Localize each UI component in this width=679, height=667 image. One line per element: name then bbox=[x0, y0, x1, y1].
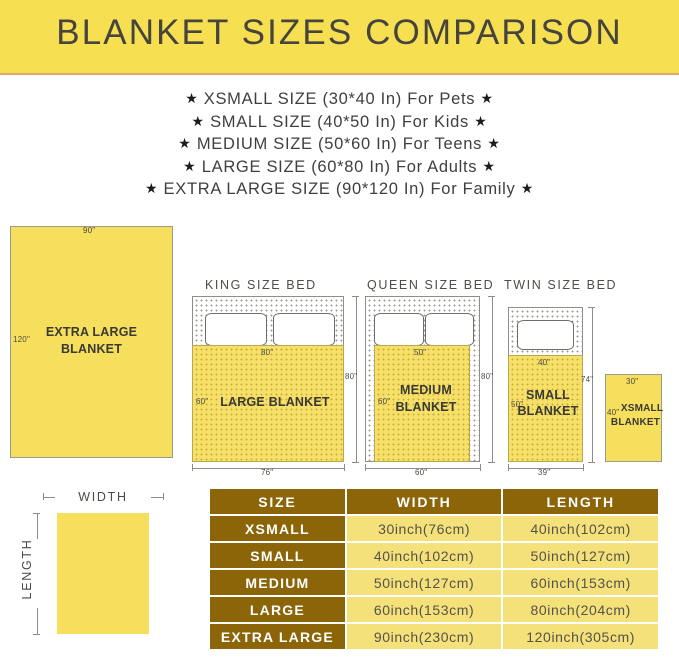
bullet-line-small: ★ SMALL SIZE (40*50 In) For Kids ★ bbox=[0, 111, 679, 134]
legend-length-line-top bbox=[37, 513, 38, 539]
twin-blanket-width-label: 40" bbox=[538, 358, 550, 367]
page-title: BLANKET SIZES COMPARISON bbox=[0, 13, 679, 53]
bullet-line-xsmall: ★ XSMALL SIZE (30*40 In) For Pets ★ bbox=[0, 88, 679, 111]
bullet-text: LARGE SIZE (60*80 In) For Adults bbox=[202, 158, 478, 176]
table-row: SMALL 40inch(102cm) 50inch(127cm) bbox=[210, 543, 658, 568]
row-size-extra-large: EXTRA LARGE bbox=[210, 624, 345, 649]
king-width-tick-left bbox=[192, 464, 193, 471]
queen-width-tick-left bbox=[365, 464, 366, 471]
bullet-line-extra-large: ★ EXTRA LARGE SIZE (90*120 In) For Famil… bbox=[0, 178, 679, 201]
extra-large-blanket-label-line1: EXTRA LARGE bbox=[10, 325, 173, 339]
star-icon: ★ bbox=[145, 180, 158, 196]
row-size-medium: MEDIUM bbox=[210, 570, 345, 595]
table-header-length: LENGTH bbox=[503, 489, 658, 514]
row-length-medium: 60inch(153cm) bbox=[503, 570, 658, 595]
row-length-extra-large: 120inch(305cm) bbox=[503, 624, 658, 649]
row-width-large: 60inch(153cm) bbox=[347, 597, 502, 622]
row-width-xsmall: 30inch(76cm) bbox=[347, 516, 502, 541]
size-bullet-list: ★ XSMALL SIZE (30*40 In) For Pets ★ ★ SM… bbox=[0, 88, 679, 201]
legend-width-tick-left bbox=[43, 493, 44, 500]
twin-bed-width-label: 39" bbox=[538, 468, 550, 477]
king-width-tick-right bbox=[344, 464, 345, 471]
queen-bed-title: QUEEN SIZE BED bbox=[367, 278, 494, 292]
twin-bed-length-label: 74" bbox=[581, 375, 593, 384]
blanket-size-diagram: 90" 120" EXTRA LARGE BLANKET KING SIZE B… bbox=[0, 212, 679, 482]
infographic-page: BLANKET SIZES COMPARISON ★ XSMALL SIZE (… bbox=[0, 0, 679, 667]
twin-blanket-label-line1: SMALL bbox=[513, 388, 583, 402]
row-size-xsmall: XSMALL bbox=[210, 516, 345, 541]
xsmall-blanket-label-line2: BLANKET bbox=[607, 417, 664, 428]
queen-pillow-left bbox=[374, 313, 424, 346]
size-chart-table: SIZE WIDTH LENGTH XSMALL 30inch(76cm) 40… bbox=[208, 487, 660, 651]
queen-width-tick-right bbox=[480, 464, 481, 471]
legend-width-label: WIDTH bbox=[57, 490, 149, 504]
twin-length-tick-top bbox=[588, 307, 595, 308]
king-length-tick-top bbox=[352, 296, 359, 297]
star-icon: ★ bbox=[192, 113, 205, 129]
xsmall-blanket-label-line1: XSMALL bbox=[618, 403, 666, 414]
star-icon: ★ bbox=[178, 135, 191, 151]
legend-length-tick-bottom bbox=[33, 634, 40, 635]
twin-blanket-label-line2: BLANKET bbox=[513, 404, 583, 418]
king-bed-title: KING SIZE BED bbox=[205, 278, 317, 292]
bullet-text: XSMALL SIZE (30*40 In) For Pets bbox=[204, 90, 475, 108]
row-width-small: 40inch(102cm) bbox=[347, 543, 502, 568]
bullet-line-large: ★ LARGE SIZE (60*80 In) For Adults ★ bbox=[0, 156, 679, 179]
extra-large-width-label: 90" bbox=[83, 226, 95, 235]
legend-width-line-right bbox=[151, 497, 163, 498]
king-bed-width-label: 76" bbox=[261, 468, 273, 477]
twin-width-tick-right bbox=[583, 464, 584, 471]
king-blanket-label: LARGE BLANKET bbox=[206, 395, 344, 409]
bullet-line-medium: ★ MEDIUM SIZE (50*60 In) For Teens ★ bbox=[0, 133, 679, 156]
row-width-medium: 50inch(127cm) bbox=[347, 570, 502, 595]
star-icon: ★ bbox=[185, 90, 198, 106]
king-length-tick-bottom bbox=[352, 462, 359, 463]
xsmall-width-label: 30" bbox=[626, 377, 638, 386]
table-header-size: SIZE bbox=[210, 489, 345, 514]
twin-width-tick-left bbox=[508, 464, 509, 471]
row-size-large: LARGE bbox=[210, 597, 345, 622]
row-length-large: 80inch(204cm) bbox=[503, 597, 658, 622]
star-icon: ★ bbox=[521, 180, 534, 196]
star-icon: ★ bbox=[483, 158, 496, 174]
king-bed-length-label: 80" bbox=[345, 372, 357, 381]
twin-bed-length-dimension-line bbox=[592, 307, 593, 462]
table-row: MEDIUM 50inch(127cm) 60inch(153cm) bbox=[210, 570, 658, 595]
queen-blanket-width-label: 50" bbox=[414, 348, 426, 357]
king-blanket-width-label: 80" bbox=[261, 348, 273, 357]
row-size-small: SMALL bbox=[210, 543, 345, 568]
star-icon: ★ bbox=[487, 135, 500, 151]
table-row: XSMALL 30inch(76cm) 40inch(102cm) bbox=[210, 516, 658, 541]
legend-length-label: LENGTH bbox=[20, 523, 34, 615]
table-header-width: WIDTH bbox=[347, 489, 502, 514]
queen-pillow-right bbox=[425, 313, 474, 346]
queen-bed-width-label: 60" bbox=[415, 468, 427, 477]
twin-bed-title: TWIN SIZE BED bbox=[504, 278, 617, 292]
row-width-extra-large: 90inch(230cm) bbox=[347, 624, 502, 649]
table-row: EXTRA LARGE 90inch(230cm) 120inch(305cm) bbox=[210, 624, 658, 649]
queen-blanket-label-line2: BLANKET bbox=[382, 400, 470, 414]
legend-width-tick-right bbox=[163, 493, 164, 500]
bullet-text: MEDIUM SIZE (50*60 In) For Teens bbox=[197, 135, 482, 153]
twin-pillow bbox=[517, 320, 574, 350]
star-icon: ★ bbox=[183, 158, 196, 174]
star-icon: ★ bbox=[474, 113, 487, 129]
legend-blanket-swatch bbox=[57, 513, 149, 634]
king-pillow-right bbox=[273, 313, 335, 346]
queen-bed-length-label: 80" bbox=[481, 372, 493, 381]
bullet-text: EXTRA LARGE SIZE (90*120 In) For Family bbox=[164, 180, 516, 198]
king-pillow-left bbox=[205, 313, 267, 346]
width-length-legend: WIDTH LENGTH bbox=[0, 482, 200, 667]
queen-blanket-label-line1: MEDIUM bbox=[382, 383, 470, 397]
extra-large-blanket-label-line2: BLANKET bbox=[10, 342, 173, 356]
header-divider-rule bbox=[0, 73, 679, 75]
legend-length-line-bottom bbox=[37, 608, 38, 634]
star-icon: ★ bbox=[481, 90, 494, 106]
twin-length-tick-bottom bbox=[588, 462, 595, 463]
bullet-text: SMALL SIZE (40*50 In) For Kids bbox=[210, 113, 469, 131]
table-row: LARGE 60inch(153cm) 80inch(204cm) bbox=[210, 597, 658, 622]
queen-length-tick-top bbox=[488, 296, 495, 297]
row-length-xsmall: 40inch(102cm) bbox=[503, 516, 658, 541]
legend-length-tick-top bbox=[33, 513, 40, 514]
table-header-row: SIZE WIDTH LENGTH bbox=[210, 489, 658, 514]
queen-length-tick-bottom bbox=[488, 462, 495, 463]
row-length-small: 50inch(127cm) bbox=[503, 543, 658, 568]
legend-width-line-left bbox=[43, 497, 55, 498]
